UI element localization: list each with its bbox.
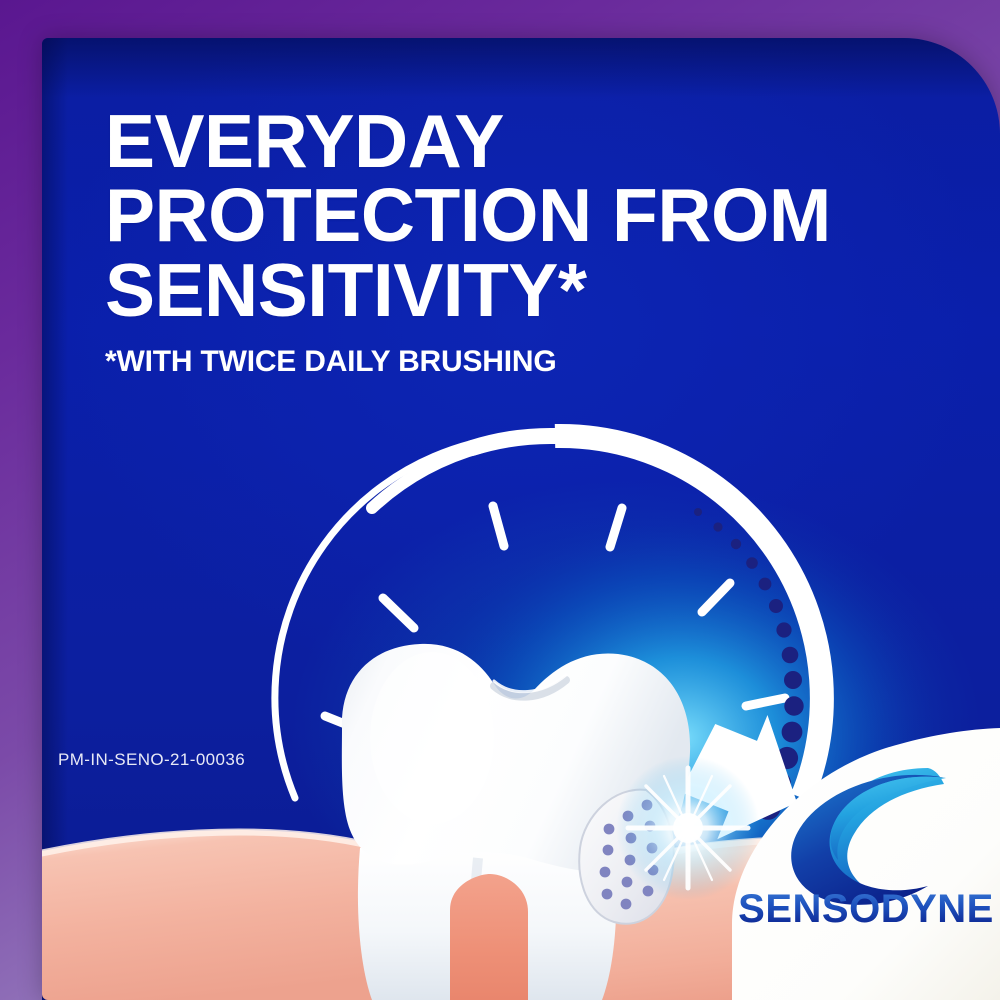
page-title: EVERYDAY PROTECTION FROM SENSITIVITY* [105,104,905,327]
headline-block: EVERYDAY PROTECTION FROM SENSITIVITY* *W… [105,104,905,379]
advertisement-canvas: EVERYDAY PROTECTION FROM SENSITIVITY* *W… [0,0,1000,1000]
brand-wordmark: SENSODYNE [738,887,994,931]
legal-reference-code: PM-IN-SENO-21-00036 [58,750,245,770]
headline-footnote: *WITH TWICE DAILY BRUSHING [105,345,905,379]
tooth-pulp [450,874,528,1000]
brand-logo-card[interactable]: SENSODYNE [732,728,1000,1000]
blue-panel: EVERYDAY PROTECTION FROM SENSITIVITY* *W… [42,38,1000,1000]
